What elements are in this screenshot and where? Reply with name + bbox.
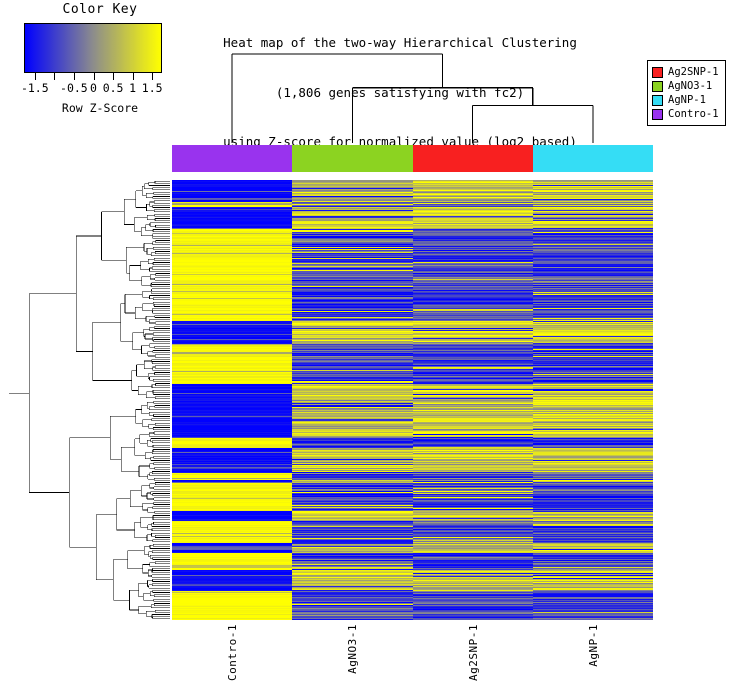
legend-item[interactable]: Contro-1: [652, 107, 719, 121]
color-key-tick-label: 1: [129, 81, 136, 95]
column-dendrogram-svg: [165, 48, 660, 143]
color-key-tick-label: 0: [90, 81, 97, 95]
color-key-title: Color Key: [0, 2, 200, 17]
color-key-gradient: [24, 23, 162, 73]
column-label: Contro-1: [226, 624, 239, 681]
heatmap-column: [172, 180, 292, 620]
legend-item-label: Contro-1: [668, 109, 719, 120]
color-key-tick-label: -0.5: [60, 81, 88, 95]
column-label: AgNO3-1: [346, 624, 359, 674]
legend-item[interactable]: Ag2SNP-1: [652, 65, 719, 79]
heatmap-column-canvas: [533, 180, 653, 620]
heatmap-column-canvas: [413, 180, 533, 620]
column-annotation-cell: [172, 145, 292, 172]
heatmap-column-canvas: [292, 180, 412, 620]
heatmap-column: [413, 180, 533, 620]
heatmap-column: [292, 180, 412, 620]
legend-item[interactable]: AgNO3-1: [652, 79, 719, 93]
heatmap-column-canvas: [172, 180, 292, 620]
color-key-tick: [133, 73, 134, 80]
column-annotation-cell: [413, 145, 533, 172]
column-dendrogram: [165, 48, 660, 143]
column-annotation-cell: [533, 145, 653, 172]
color-key-tick: [35, 73, 36, 80]
color-key-tick: [113, 73, 114, 80]
color-key-tick: [152, 73, 153, 80]
column-label: Ag2SNP-1: [467, 624, 480, 681]
column-labels: Contro-1AgNO3-1Ag2SNP-1AgNP-1: [172, 624, 653, 700]
heatmap-column: [533, 180, 653, 620]
color-key-tick-label: -1.5: [21, 81, 49, 95]
heatmap-body: [172, 180, 653, 620]
legend-item-label: AgNP-1: [668, 95, 706, 106]
row-dendrogram-svg: [8, 180, 170, 620]
legend-item[interactable]: AgNP-1: [652, 93, 719, 107]
row-dendrogram: [8, 180, 170, 620]
legend-item-label: AgNO3-1: [668, 81, 712, 92]
legend-item-label: Ag2SNP-1: [668, 67, 719, 78]
color-key-tick: [94, 73, 95, 80]
color-key-tick-label: 1.5: [142, 81, 163, 95]
color-key-tick-label: 0.5: [103, 81, 124, 95]
color-key-tick: [74, 73, 75, 80]
column-annotation-cell: [292, 145, 412, 172]
column-annotation-bar: [172, 145, 653, 172]
column-label: AgNP-1: [587, 624, 600, 667]
color-key-ticks: [24, 73, 163, 80]
color-key-tick: [54, 73, 55, 80]
